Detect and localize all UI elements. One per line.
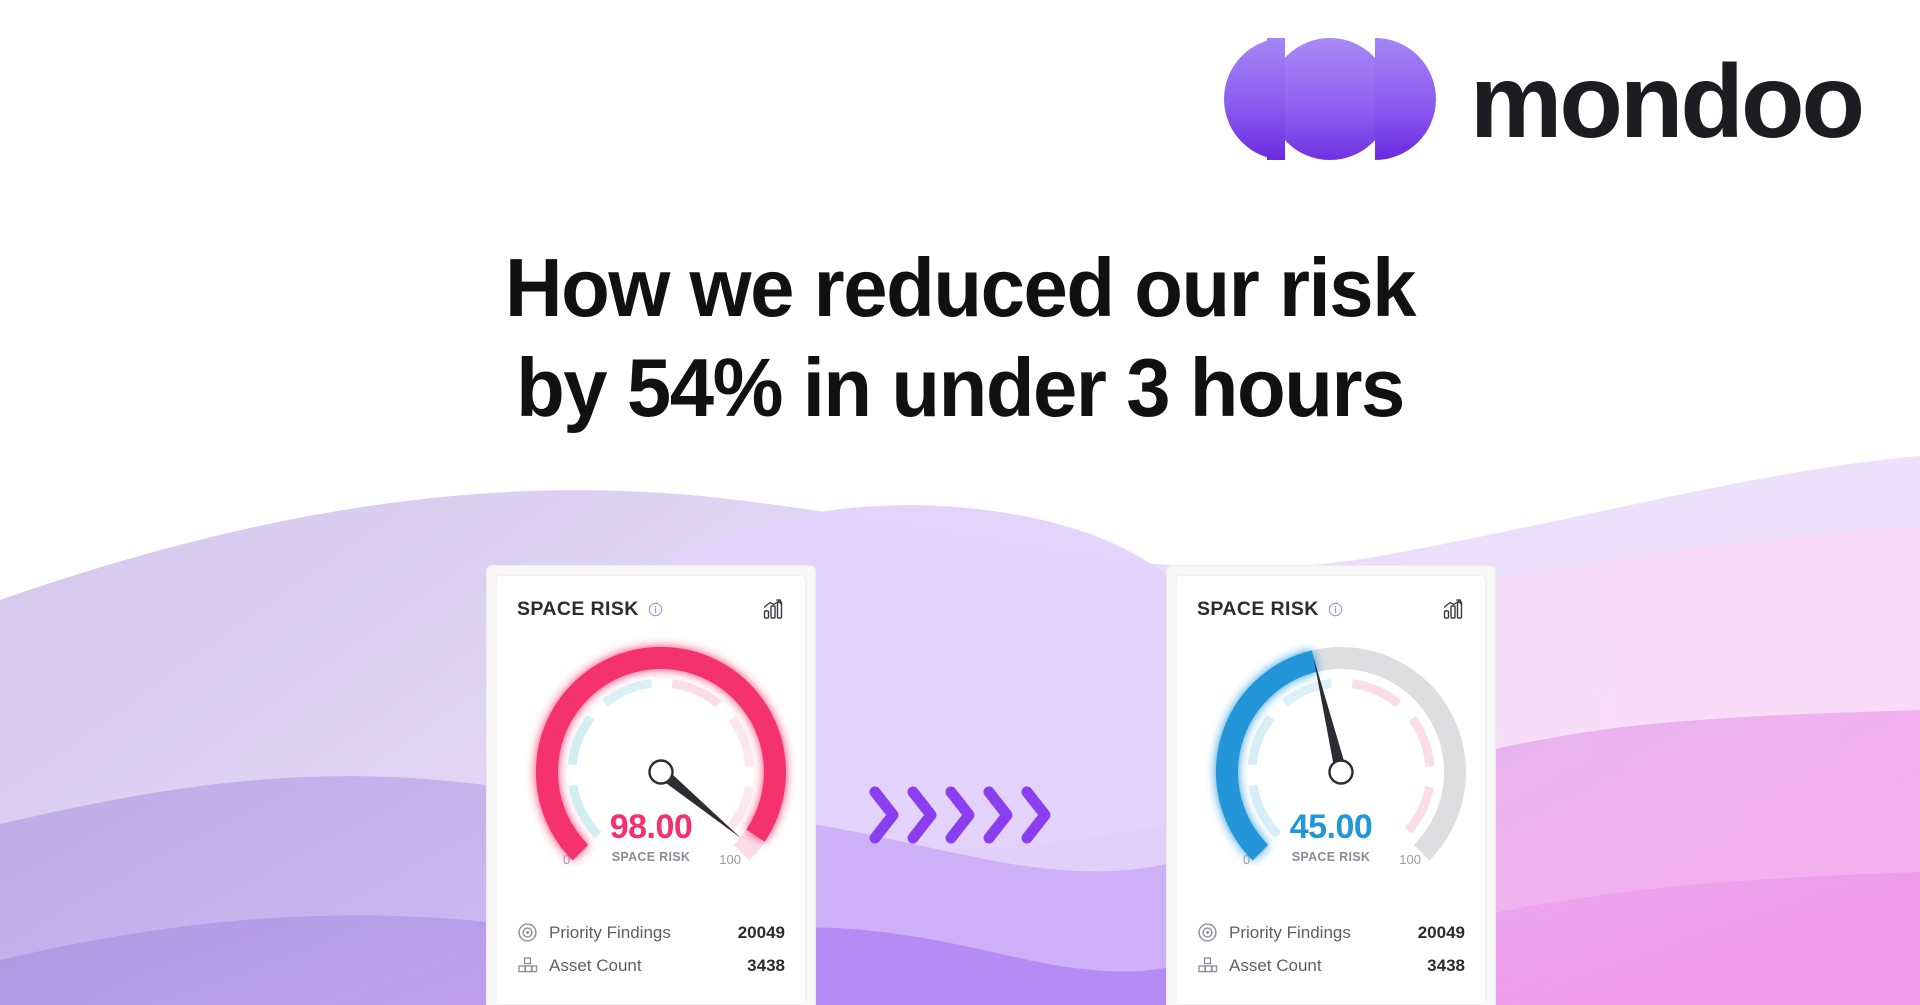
gauge-value: 45.00 <box>1197 810 1465 844</box>
risk-gauge-before: 98.00 SPACE RISK 0 100 <box>517 628 785 878</box>
page-title: How we reduced our risk by 54% in under … <box>38 238 1881 437</box>
stat-label: Asset Count <box>1229 956 1427 976</box>
chevron-right-icon <box>906 784 940 846</box>
space-risk-card-before[interactable]: SPACE RISK <box>486 565 816 1005</box>
stat-value: 3438 <box>1427 956 1465 976</box>
stat-value: 20049 <box>1418 923 1465 943</box>
risk-gauge-after: 45.00 SPACE RISK 0 100 <box>1197 628 1465 878</box>
card-title: SPACE RISK <box>1197 598 1319 621</box>
stat-value: 20049 <box>738 923 785 943</box>
chevron-right-icon <box>1020 784 1054 846</box>
stat-row: Asset Count 3438 <box>1197 949 1465 982</box>
headline-line-2: by 54% in under 3 hours <box>38 338 1881 438</box>
card-stats: Priority Findings 20049 Asset Count 3438 <box>1197 916 1465 1004</box>
target-icon <box>517 922 538 943</box>
gauge-sublabel: SPACE RISK <box>1197 850 1465 864</box>
slide-canvas: mondoo How we reduced our risk by 54% in… <box>0 0 1920 1005</box>
card-header: SPACE RISK <box>517 594 785 624</box>
chevron-right-icon <box>982 784 1016 846</box>
assets-stack-icon <box>517 955 538 976</box>
chevron-right-icon <box>868 784 902 846</box>
card-header: SPACE RISK <box>1197 594 1465 624</box>
gauge-scale-max: 100 <box>1399 852 1421 867</box>
gauge-sublabel: SPACE RISK <box>517 850 785 864</box>
stat-label: Priority Findings <box>549 923 738 943</box>
stat-label: Asset Count <box>549 956 747 976</box>
card-stats: Priority Findings 20049 Asset Count 3438 <box>517 916 785 1004</box>
brand-wordmark: mondoo <box>1470 50 1862 154</box>
bar-chart-icon[interactable] <box>763 599 785 619</box>
gauge-value: 98.00 <box>517 810 785 844</box>
brand-logo: mondoo <box>1224 38 1862 160</box>
target-icon <box>1197 922 1218 943</box>
info-circle-icon[interactable] <box>1328 602 1343 617</box>
card-title: SPACE RISK <box>517 598 639 621</box>
stat-value: 3438 <box>747 956 785 976</box>
transition-arrows <box>868 784 1058 846</box>
space-risk-card-after[interactable]: SPACE RISK <box>1166 565 1496 1005</box>
assets-stack-icon <box>1197 955 1218 976</box>
mondoo-logo-mark-icon <box>1224 38 1436 160</box>
stat-label: Priority Findings <box>1229 923 1418 943</box>
chevron-right-icon <box>944 784 978 846</box>
info-circle-icon[interactable] <box>648 602 663 617</box>
gauge-scale-max: 100 <box>719 852 741 867</box>
stat-row: Priority Findings 20049 <box>517 916 785 949</box>
gauge-scale-min: 0 <box>563 852 570 867</box>
headline-line-1: How we reduced our risk <box>38 238 1881 338</box>
gauge-scale-min: 0 <box>1243 852 1250 867</box>
stat-row: Priority Findings 20049 <box>1197 916 1465 949</box>
stat-row: Asset Count 3438 <box>517 949 785 982</box>
bar-chart-icon[interactable] <box>1443 599 1465 619</box>
